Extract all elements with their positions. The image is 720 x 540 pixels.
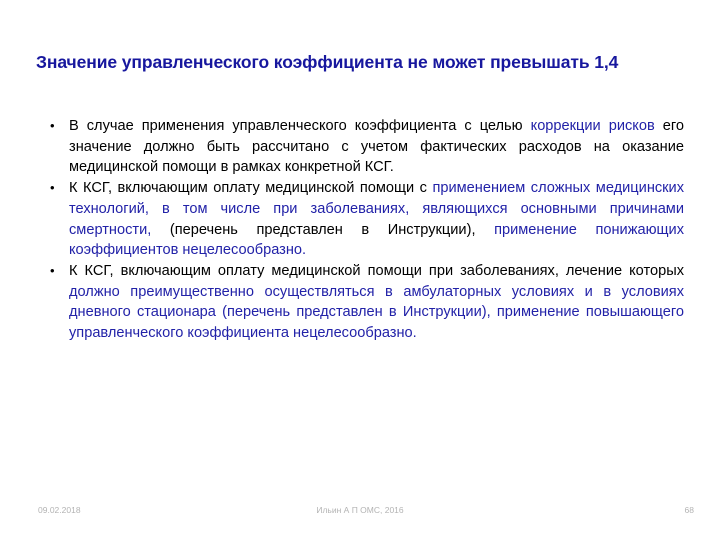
text-run: К КСГ, включающим оплату медицинской пом… (69, 263, 684, 279)
list-item: В случае применения управленческого коэф… (44, 116, 684, 178)
text-run: коррекции рисков (531, 118, 655, 134)
footer-page-number: 68 (685, 505, 694, 515)
bullet-text: В случае применения управленческого коэф… (69, 116, 684, 178)
slide-body: В случае применения управленческого коэф… (44, 116, 684, 344)
footer-attribution: Ильин А П ОМС, 2016 (0, 505, 720, 515)
list-item: К КСГ, включающим оплату медицинской пом… (44, 178, 684, 261)
page-title: Значение управленческого коэффициента не… (36, 50, 676, 75)
text-run: В случае применения управленческого коэф… (69, 118, 531, 134)
text-run: должно преимущественно осуществляться в … (69, 284, 684, 341)
bullet-list: В случае применения управленческого коэф… (44, 116, 684, 344)
slide-footer: 09.02.2018 Ильин А П ОМС, 2016 68 (0, 505, 720, 525)
text-run: (перечень представлен в Инструкции), (151, 222, 494, 238)
slide-canvas: Значение управленческого коэффициента не… (0, 0, 720, 540)
bullet-text: К КСГ, включающим оплату медицинской пом… (69, 261, 684, 344)
bullet-text: К КСГ, включающим оплату медицинской пом… (69, 178, 684, 261)
text-run: К КСГ, включающим оплату медицинской пом… (69, 180, 432, 196)
list-item: К КСГ, включающим оплату медицинской пом… (44, 261, 684, 344)
